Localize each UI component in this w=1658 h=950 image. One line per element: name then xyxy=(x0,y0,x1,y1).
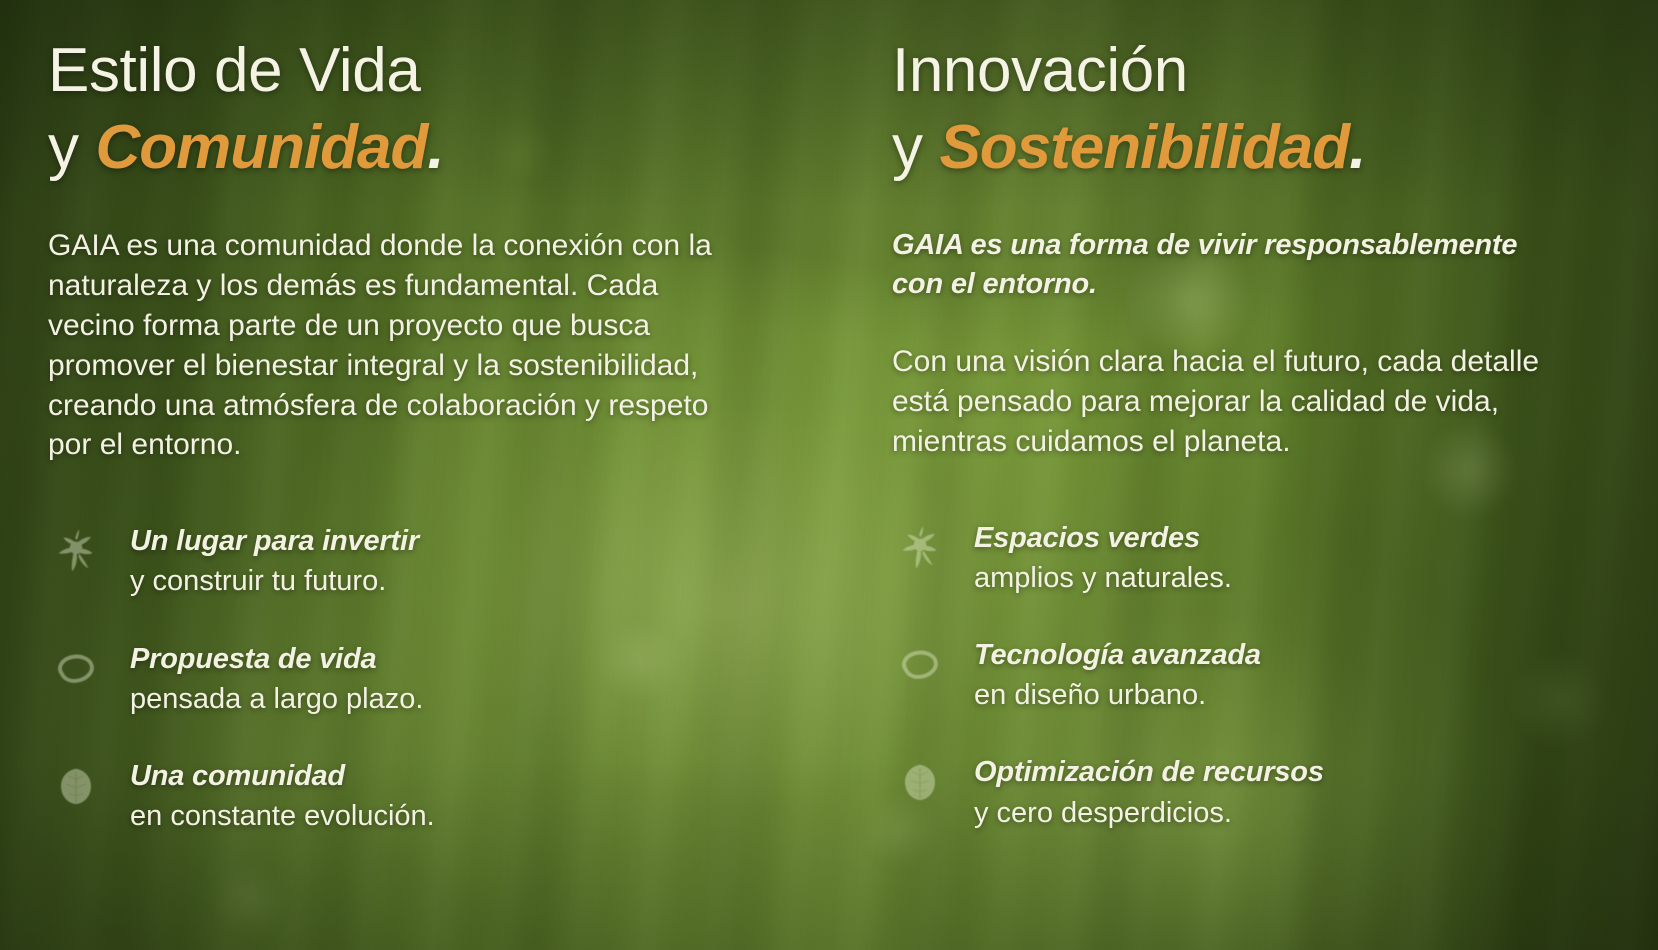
sprout-icon xyxy=(48,529,104,573)
pebble-ring-icon xyxy=(892,643,948,687)
bullet-text: Tecnología avanzada en diseño urbano. xyxy=(974,637,1261,714)
heading-accent-word: Comunidad xyxy=(95,113,427,182)
leaf-icon xyxy=(48,764,104,808)
list-item: Un lugar para invertir y construir tu fu… xyxy=(48,523,880,600)
content-columns: Estilo de Vida y Comunidad. GAIA es una … xyxy=(0,0,1658,950)
column-estilo-de-vida: Estilo de Vida y Comunidad. GAIA es una … xyxy=(0,0,880,950)
paragraph-left: GAIA es una comunidad donde la conexión … xyxy=(48,226,748,465)
paragraph-right: Con una visión clara hacia el futuro, ca… xyxy=(892,342,1592,462)
bullet-text: Optimización de recursos y cero desperdi… xyxy=(974,754,1324,831)
heading-conjunction: y xyxy=(48,113,95,182)
heading-period: . xyxy=(1349,113,1366,182)
bullet-text: Un lugar para invertir y construir tu fu… xyxy=(130,523,419,600)
heading-line-1: Estilo de Vida xyxy=(48,36,420,105)
bullet-list-left: Un lugar para invertir y construir tu fu… xyxy=(48,523,880,835)
bullet-title: Una comunidad xyxy=(130,758,435,795)
bullet-text: Una comunidad en constante evolución. xyxy=(130,758,435,835)
bullet-text: Espacios verdes amplios y naturales. xyxy=(974,520,1232,597)
list-item: Una comunidad en constante evolución. xyxy=(48,758,880,835)
bullet-text: Propuesta de vida pensada a largo plazo. xyxy=(130,641,423,718)
list-item: Propuesta de vida pensada a largo plazo. xyxy=(48,641,880,718)
bullet-subtitle: amplios y naturales. xyxy=(974,560,1232,597)
bullet-subtitle: y construir tu futuro. xyxy=(130,563,419,600)
bullet-subtitle: y cero desperdicios. xyxy=(974,795,1324,832)
heading-period: . xyxy=(427,113,444,182)
list-item: Tecnología avanzada en diseño urbano. xyxy=(892,637,1658,714)
heading-accent-word: Sostenibilidad xyxy=(939,113,1349,182)
page-title-right: Innovación y Sostenibilidad. xyxy=(892,40,1658,179)
bullet-subtitle: en diseño urbano. xyxy=(974,677,1261,714)
column-innovacion: Innovación y Sostenibilidad. GAIA es una… xyxy=(880,0,1658,950)
sprout-icon xyxy=(892,526,948,570)
bullet-title: Propuesta de vida xyxy=(130,641,423,678)
lead-paragraph-right: GAIA es una forma de vivir responsableme… xyxy=(892,226,1552,304)
bullet-title: Espacios verdes xyxy=(974,520,1232,557)
slide-canvas: Estilo de Vida y Comunidad. GAIA es una … xyxy=(0,0,1658,950)
leaf-icon xyxy=(892,760,948,804)
bullet-title: Un lugar para invertir xyxy=(130,523,419,560)
heading-line-1: Innovación xyxy=(892,36,1188,105)
list-item: Espacios verdes amplios y naturales. xyxy=(892,520,1658,597)
list-item: Optimización de recursos y cero desperdi… xyxy=(892,754,1658,831)
bullet-title: Tecnología avanzada xyxy=(974,637,1261,674)
pebble-ring-icon xyxy=(48,647,104,691)
heading-line-2: y Comunidad. xyxy=(48,117,880,179)
bullet-list-right: Espacios verdes amplios y naturales. Tec… xyxy=(892,520,1658,832)
heading-line-2: y Sostenibilidad. xyxy=(892,117,1658,179)
bullet-subtitle: pensada a largo plazo. xyxy=(130,681,423,718)
bullet-title: Optimización de recursos xyxy=(974,754,1324,791)
bullet-subtitle: en constante evolución. xyxy=(130,798,435,835)
page-title-left: Estilo de Vida y Comunidad. xyxy=(48,40,880,179)
heading-conjunction: y xyxy=(892,113,939,182)
